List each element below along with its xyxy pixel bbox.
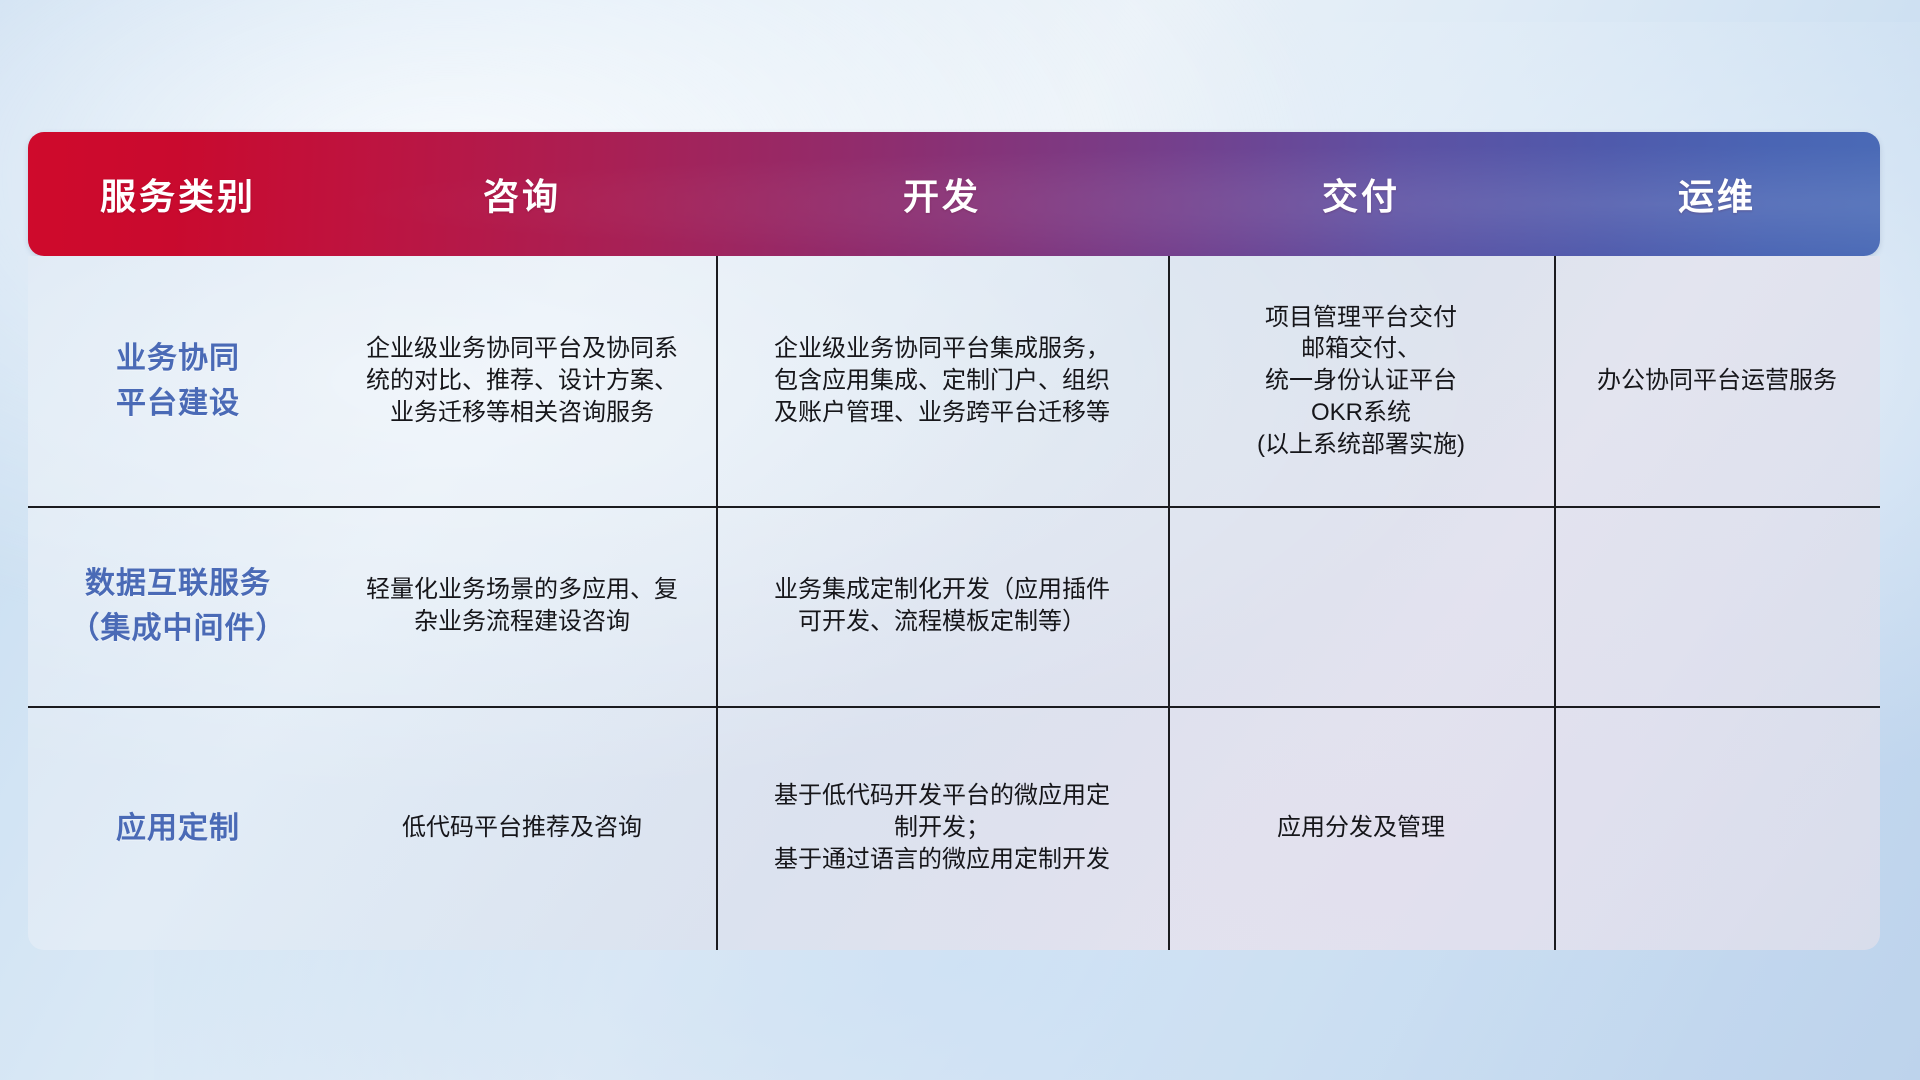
cell-operations-row2 (1554, 506, 1880, 706)
cell-category-row3: 应用定制 (28, 706, 328, 950)
cell-category-row1: 业务协同 平台建设 (28, 256, 328, 506)
table-rows: 业务协同 平台建设企业级业务协同平台及协同系 统的对比、推荐、设计方案、 业务迁… (28, 256, 1880, 950)
table-row: 业务协同 平台建设企业级业务协同平台及协同系 统的对比、推荐、设计方案、 业务迁… (28, 256, 1880, 506)
cell-development-row3: 基于低代码开发平台的微应用定 制开发； 基于通过语言的微应用定制开发 (716, 706, 1168, 950)
table-row: 数据互联服务 （集成中间件）轻量化业务场景的多应用、复 杂业务流程建设咨询业务集… (28, 506, 1880, 706)
column-header-operations[interactable]: 运维 (1554, 168, 1880, 220)
cell-delivery-row2 (1168, 506, 1554, 706)
column-header-development[interactable]: 开发 (716, 168, 1168, 220)
cell-category-row2: 数据互联服务 （集成中间件） (28, 506, 328, 706)
cell-delivery-row3: 应用分发及管理 (1168, 706, 1554, 950)
table-header-row: 服务类别咨询开发交付运维 (28, 132, 1880, 256)
cell-operations-row3 (1554, 706, 1880, 950)
table-body: 业务协同 平台建设企业级业务协同平台及协同系 统的对比、推荐、设计方案、 业务迁… (28, 256, 1880, 950)
cell-consulting-row3: 低代码平台推荐及咨询 (328, 706, 716, 950)
cell-operations-row1: 办公协同平台运营服务 (1554, 256, 1880, 506)
cell-development-row2: 业务集成定制化开发（应用插件 可开发、流程模板定制等） (716, 506, 1168, 706)
cell-consulting-row1: 企业级业务协同平台及协同系 统的对比、推荐、设计方案、 业务迁移等相关咨询服务 (328, 256, 716, 506)
column-header-category[interactable]: 服务类别 (28, 168, 328, 220)
service-matrix-table: 服务类别咨询开发交付运维 业务协同 平台建设企业级业务协同平台及协同系 统的对比… (28, 132, 1880, 950)
cell-consulting-row2: 轻量化业务场景的多应用、复 杂业务流程建设咨询 (328, 506, 716, 706)
column-header-consulting[interactable]: 咨询 (328, 168, 716, 220)
cell-delivery-row1: 项目管理平台交付 邮箱交付、 统一身份认证平台 OKR系统 (以上系统部署实施) (1168, 256, 1554, 506)
table-row: 应用定制低代码平台推荐及咨询基于低代码开发平台的微应用定 制开发； 基于通过语言… (28, 706, 1880, 950)
cell-development-row1: 企业级业务协同平台集成服务， 包含应用集成、定制门户、组织 及账户管理、业务跨平… (716, 256, 1168, 506)
column-header-delivery[interactable]: 交付 (1168, 168, 1554, 220)
